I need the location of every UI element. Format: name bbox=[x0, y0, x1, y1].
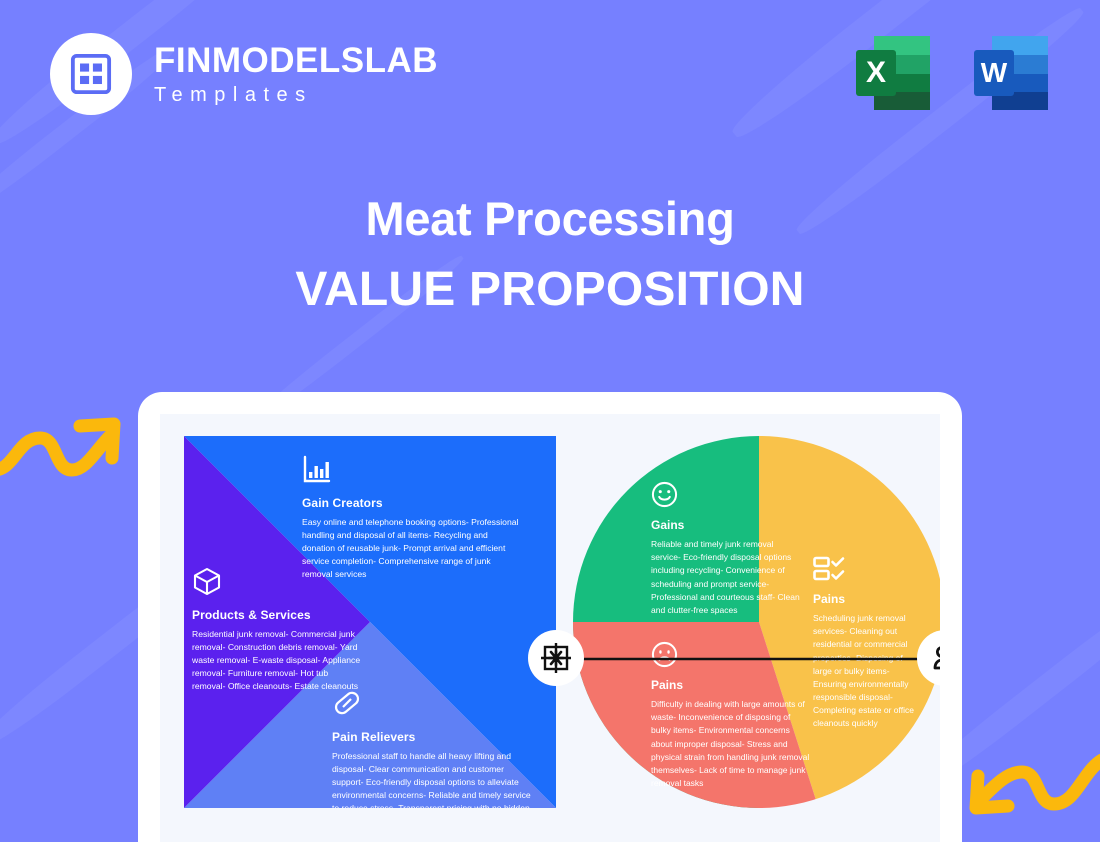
customer-jobs-title: Pains bbox=[813, 592, 918, 606]
office-icon-group: X W bbox=[848, 28, 1056, 118]
customer-people-icon bbox=[929, 642, 940, 674]
pains-title: Pains bbox=[651, 678, 811, 692]
word-icon[interactable]: W bbox=[966, 28, 1056, 118]
pain-relievers-title: Pain Relievers bbox=[332, 730, 532, 744]
grid-squares-icon bbox=[70, 53, 112, 95]
logo-badge bbox=[50, 33, 132, 115]
svg-text:W: W bbox=[981, 57, 1008, 88]
brand-logo[interactable]: FINMODELSLAB Templates bbox=[50, 33, 438, 115]
laptop-frame: Gain Creators Easy online and telephone … bbox=[138, 392, 962, 842]
page-title: Meat Processing VALUE PROPOSITION bbox=[0, 192, 1100, 317]
block-gains: Gains Reliable and timely junk removal s… bbox=[651, 481, 801, 617]
gift-box-icon bbox=[540, 642, 572, 674]
products-services-title: Products & Services bbox=[192, 608, 362, 622]
excel-icon[interactable]: X bbox=[848, 28, 938, 118]
squiggle-arrow-up-right-icon bbox=[0, 398, 132, 493]
svg-text:X: X bbox=[866, 56, 886, 89]
customer-profile-pie: Gains Reliable and timely junk removal s… bbox=[573, 436, 940, 808]
page-header: FINMODELSLAB Templates X W bbox=[0, 0, 1100, 150]
checklist-icon bbox=[813, 556, 847, 582]
gains-title: Gains bbox=[651, 518, 801, 532]
connector-arrow bbox=[552, 652, 932, 666]
block-pain-relievers: Pain Relievers Professional staff to han… bbox=[332, 688, 532, 808]
block-products-services: Products & Services Residential junk rem… bbox=[192, 566, 362, 693]
title-line-2: VALUE PROPOSITION bbox=[0, 264, 1100, 317]
device-screen: Gain Creators Easy online and telephone … bbox=[160, 414, 940, 842]
brand-text: FINMODELSLAB Templates bbox=[154, 43, 438, 105]
pains-body: Difficulty in dealing with large amounts… bbox=[651, 698, 811, 790]
value-map-center-badge[interactable] bbox=[528, 630, 584, 686]
block-customer-jobs: Pains Scheduling junk removal services- … bbox=[813, 556, 918, 731]
brand-subtitle: Templates bbox=[154, 85, 438, 105]
block-gain-creators: Gain Creators Easy online and telephone … bbox=[302, 454, 522, 581]
pill-icon bbox=[332, 688, 362, 718]
pain-relievers-body: Professional staff to handle all heavy l… bbox=[332, 750, 532, 808]
brand-name: FINMODELSLAB bbox=[154, 43, 438, 78]
bar-chart-icon bbox=[302, 454, 332, 484]
products-services-body: Residential junk removal- Commercial jun… bbox=[192, 628, 362, 693]
gain-creators-title: Gain Creators bbox=[302, 496, 522, 510]
value-map-square: Gain Creators Easy online and telephone … bbox=[184, 436, 556, 808]
squiggle-arrow-down-left-icon bbox=[964, 752, 1100, 842]
customer-jobs-body: Scheduling junk removal services- Cleani… bbox=[813, 612, 918, 731]
smiley-happy-icon bbox=[651, 481, 678, 508]
gains-body: Reliable and timely junk removal service… bbox=[651, 538, 801, 617]
title-line-1: Meat Processing bbox=[0, 192, 1100, 246]
box-icon bbox=[192, 566, 222, 596]
